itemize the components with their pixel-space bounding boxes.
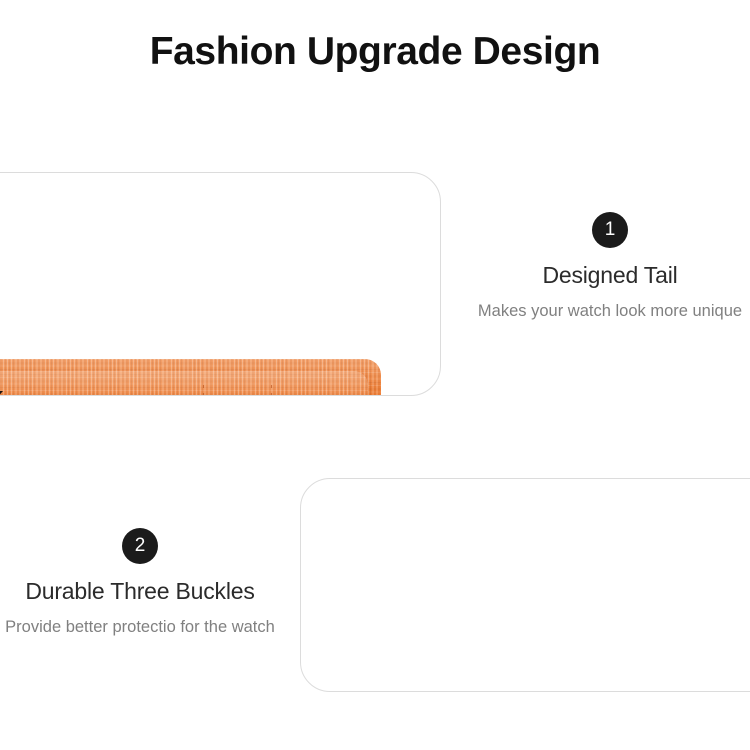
- strap-stitch-line: [203, 385, 204, 396]
- three-buckles-photo-card: [300, 478, 750, 692]
- strap-stitch-line: [271, 385, 272, 396]
- designed-tail-photo-card: KB 05 SWEATPROOF DURABLE TENACITY Kalebo…: [0, 172, 441, 396]
- feature-title: Durable Three Buckles: [0, 578, 290, 605]
- feature-block-designed-tail: 1 Designed Tail Makes your watch look mo…: [470, 212, 750, 324]
- feature-description: Makes your watch look more unique: [470, 299, 750, 324]
- feature-block-three-buckles: 2 Durable Three Buckles Provide better p…: [0, 528, 290, 640]
- feature-description: Provide better protectio for the watch: [0, 615, 290, 640]
- feature-title: Designed Tail: [470, 262, 750, 289]
- strap-notch-top-icon: [0, 391, 3, 396]
- page-title: Fashion Upgrade Design: [0, 30, 750, 74]
- feature-number-badge: 1: [592, 212, 628, 248]
- strap-top-layer: [0, 371, 368, 396]
- feature-number-badge: 2: [122, 528, 158, 564]
